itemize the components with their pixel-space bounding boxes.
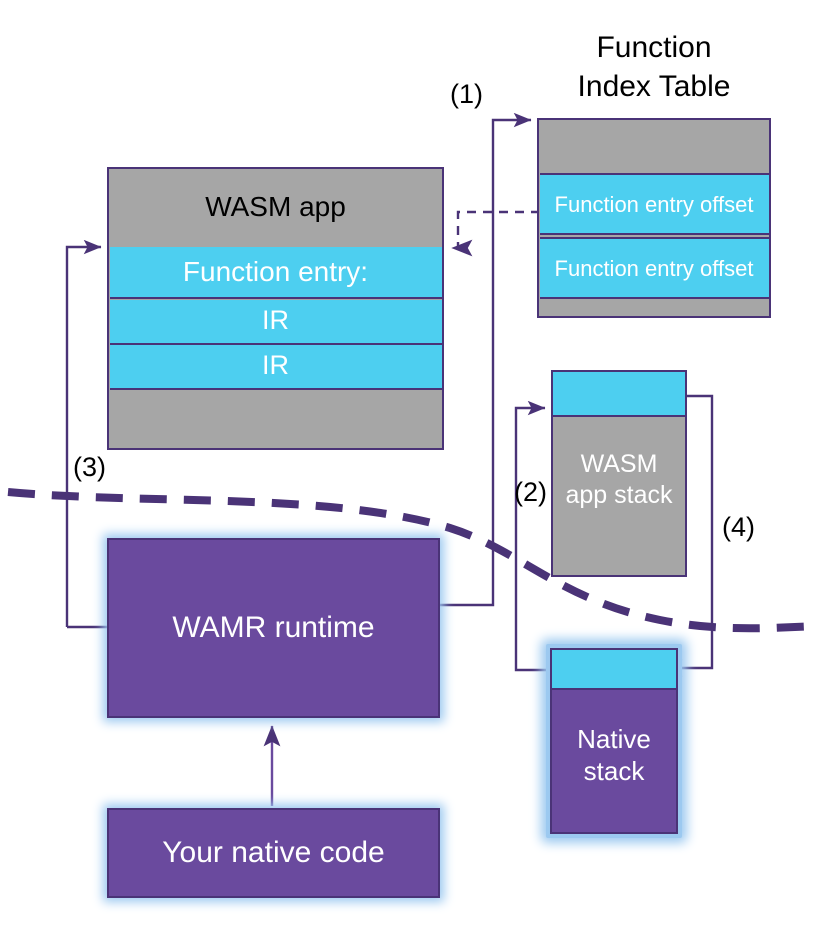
native-stack-top-bar — [550, 648, 678, 690]
was-label-line1: WASM — [581, 449, 658, 480]
wamr-runtime-box: WAMR runtime — [107, 538, 440, 718]
step-label-2: (2) — [514, 477, 547, 508]
native-stack-label: Native stack — [550, 700, 678, 810]
step-label-4: (4) — [722, 512, 755, 543]
wasm-app-function-entry-row: Function entry: — [110, 247, 442, 299]
was-label-line2: app stack — [565, 480, 672, 511]
ns-label-line1: Native — [577, 723, 651, 756]
fit-title-line2: Index Table — [519, 67, 789, 106]
your-native-code-box: Your native code — [107, 808, 440, 898]
fit-title-line1: Function — [519, 28, 789, 67]
wasm-app-title: WASM app — [107, 167, 444, 247]
ns-label-line2: stack — [584, 755, 645, 788]
function-index-table-entry: Function entry offset — [540, 237, 769, 299]
wasm-app-stack-top-bar — [551, 370, 687, 417]
wasm-app-ir-row: IR — [110, 300, 442, 345]
function-index-table-title: Function Index Table — [519, 28, 789, 106]
step-label-1: (1) — [450, 79, 483, 110]
wasm-app-stack-label: WASM app stack — [551, 420, 687, 540]
wasm-app-ir-row: IR — [110, 345, 442, 390]
diagram-canvas: Function Index Table Function entry offs… — [0, 0, 819, 925]
function-index-table-entry: Function entry offset — [540, 173, 769, 235]
connector-3-wamr-to-wasm-entry — [67, 247, 107, 627]
step-label-3: (3) — [73, 452, 106, 483]
